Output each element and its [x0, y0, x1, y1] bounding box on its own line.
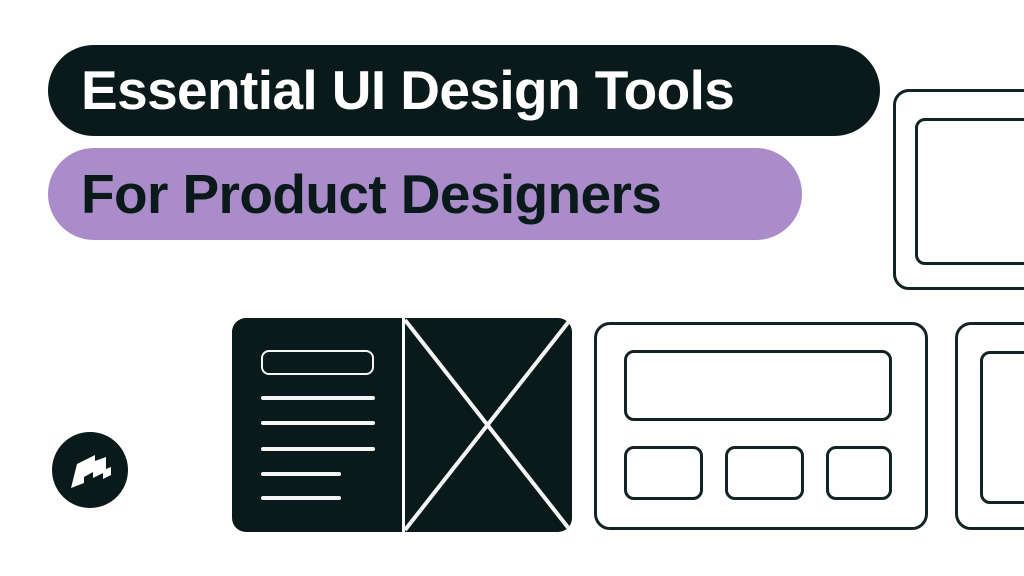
- wireframe-frame-card-top-right: [893, 89, 1024, 290]
- wireframe-text-line: [261, 421, 375, 425]
- wireframe-text-card: [232, 318, 402, 532]
- wireframe-tile-block: [725, 446, 804, 500]
- wireframe-tile-block: [624, 446, 703, 500]
- wireframe-image-card: [405, 318, 572, 532]
- wireframe-frame-card-bottom-right: [955, 322, 1024, 530]
- wireframe-frame-inner-block: [980, 351, 1024, 504]
- page-title-primary: Essential UI Design Tools: [81, 63, 734, 118]
- wireframe-text-line: [261, 396, 375, 400]
- wireframe-hero-block: [624, 350, 892, 421]
- wireframe-input-field: [261, 350, 374, 375]
- wireframe-frame-inner-block: [915, 118, 1024, 265]
- title-pill-secondary: For Product Designers: [48, 148, 802, 240]
- wireframe-text-line: [261, 496, 341, 500]
- brand-logo: [52, 432, 128, 508]
- image-placeholder-x-icon: [405, 318, 572, 532]
- wireframe-text-line: [261, 447, 375, 451]
- title-pill-primary: Essential UI Design Tools: [48, 45, 880, 136]
- lightning-bolt-icon: [65, 447, 115, 493]
- page-title-secondary: For Product Designers: [81, 167, 661, 222]
- wireframe-layout-card: [594, 322, 928, 530]
- wireframe-text-line: [261, 472, 341, 476]
- poster-canvas: Essential UI Design Tools For Product De…: [0, 0, 1024, 576]
- wireframe-tile-block: [826, 446, 892, 500]
